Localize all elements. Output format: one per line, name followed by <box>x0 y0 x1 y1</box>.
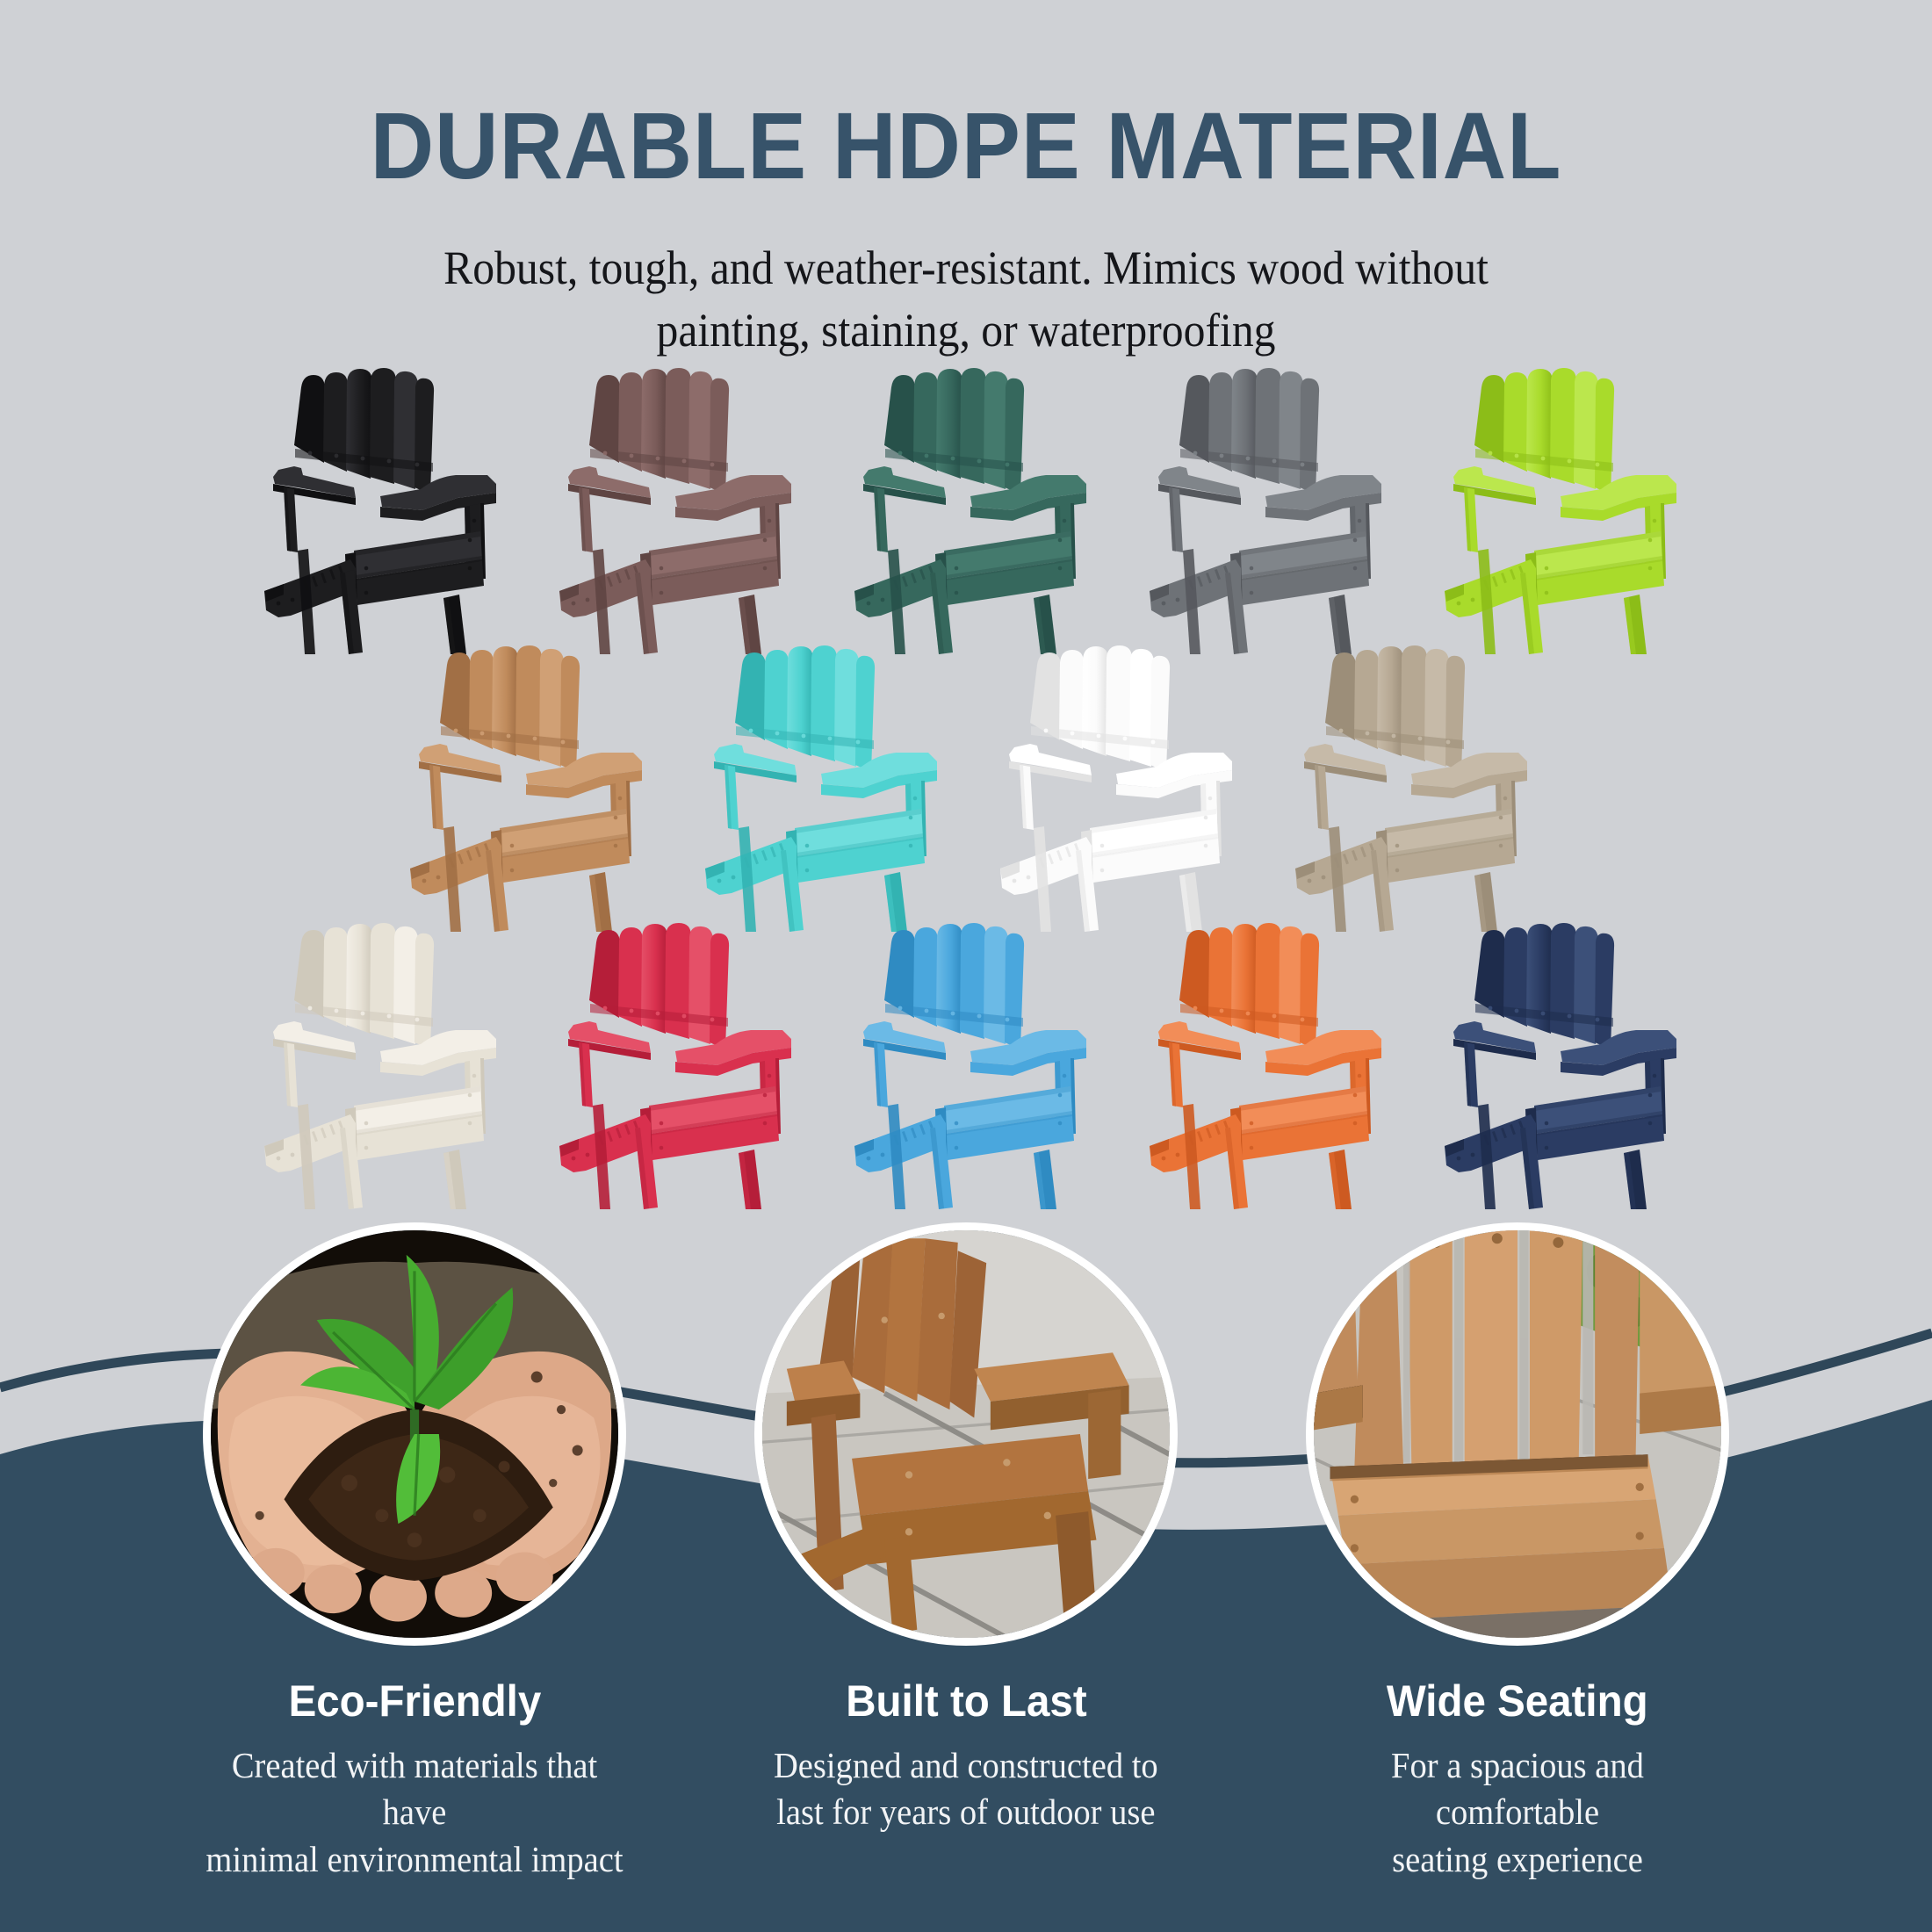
feature-list: Eco-Friendly Created with materials that… <box>0 1222 1932 1890</box>
feature-desc-wide-seating: For a spacious and comfortable seating e… <box>1307 1742 1727 1883</box>
chair-swatch-gray[interactable] <box>1134 364 1397 654</box>
feature-desc-line-1: For a spacious and comfortable <box>1307 1742 1727 1836</box>
feature-title-built-to-last: Built to Last <box>846 1676 1086 1727</box>
feature-desc-line-2: last for years of outdoor use <box>774 1789 1158 1835</box>
feature-desc-built-to-last: Designed and constructed to last for yea… <box>774 1742 1158 1836</box>
chair-swatch-white[interactable] <box>984 642 1248 932</box>
feature-eco-friendly: Eco-Friendly Created with materials that… <box>191 1222 638 1883</box>
header: DURABLE HDPE MATERIAL Robust, tough, and… <box>0 0 1932 363</box>
chair-swatch-teak[interactable] <box>394 642 658 932</box>
page-subtitle: Robust, tough, and weather-resistant. Mi… <box>77 237 1855 363</box>
feature-desc-line-2: seating experience <box>1307 1836 1727 1883</box>
feature-wide-seating: Wide Seating For a spacious and comforta… <box>1294 1222 1741 1883</box>
feature-built-to-last: Built to Last Designed and constructed t… <box>742 1222 1190 1836</box>
chair-color-grid <box>0 364 1932 1209</box>
chair-row-1 <box>0 364 1932 654</box>
chair-swatch-lime-green[interactable] <box>1429 364 1692 654</box>
chair-row-2 <box>0 642 1932 932</box>
infographic-poster: DURABLE HDPE MATERIAL Robust, tough, and… <box>0 0 1932 1932</box>
chair-swatch-ivory[interactable] <box>249 919 512 1209</box>
feature-desc-eco-friendly: Created with materials that have minimal… <box>204 1742 624 1883</box>
feature-title-eco-friendly: Eco-Friendly <box>288 1676 541 1727</box>
chair-swatch-red[interactable] <box>544 919 807 1209</box>
subtitle-line-1: Robust, tough, and weather-resistant. Mi… <box>443 241 1489 294</box>
feature-image-wide-seating <box>1306 1222 1729 1646</box>
chair-swatch-dark-green[interactable] <box>839 364 1102 654</box>
chair-swatch-brown[interactable] <box>544 364 807 654</box>
chair-swatch-black[interactable] <box>249 364 512 654</box>
page-title: DURABLE HDPE MATERIAL <box>68 98 1864 193</box>
chair-swatch-navy-blue[interactable] <box>1429 919 1692 1209</box>
chair-swatch-turquoise[interactable] <box>689 642 953 932</box>
feature-desc-line-1: Designed and constructed to <box>774 1742 1158 1789</box>
feature-image-eco-friendly <box>203 1222 626 1646</box>
chair-row-3 <box>0 919 1932 1209</box>
chair-swatch-khaki[interactable] <box>1280 642 1543 932</box>
feature-desc-line-2: minimal environmental impact <box>204 1836 624 1883</box>
feature-title-wide-seating: Wide Seating <box>1387 1676 1648 1727</box>
chair-swatch-orange[interactable] <box>1134 919 1397 1209</box>
chair-swatch-light-blue[interactable] <box>839 919 1102 1209</box>
feature-image-built-to-last <box>754 1222 1178 1646</box>
feature-desc-line-1: Created with materials that have <box>204 1742 624 1836</box>
subtitle-line-2: painting, staining, or waterproofing <box>77 299 1855 362</box>
